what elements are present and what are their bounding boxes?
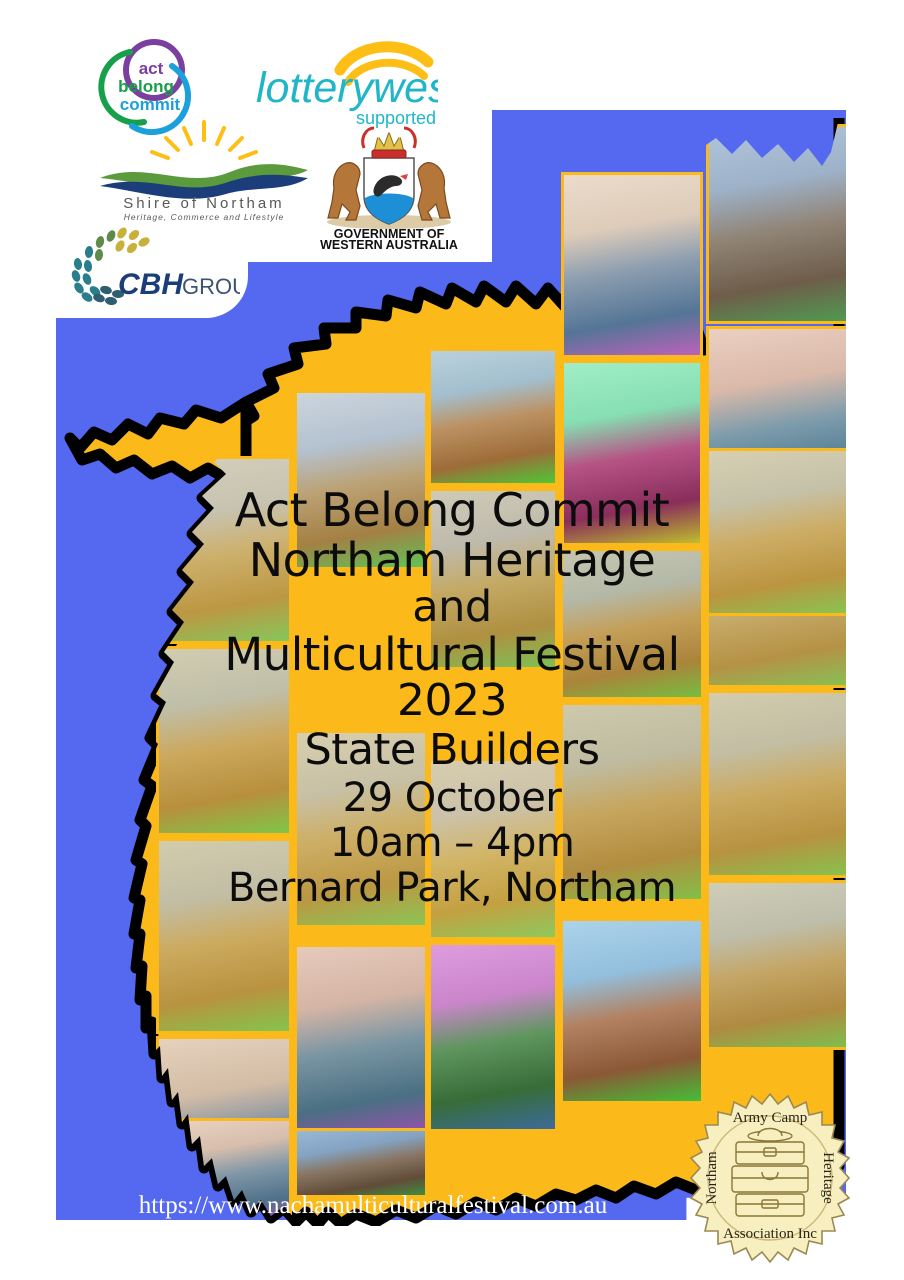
headline-line-9-venue: Bernard Park, Northam	[0, 868, 904, 909]
gwa-line2: WESTERN AUSTRALIA	[320, 238, 458, 250]
abc-act-text: act	[139, 59, 164, 78]
seal-left-text: Northam	[704, 1151, 720, 1205]
abc-commit-text: commit	[120, 95, 181, 114]
cbh-wordmark-light: GROUP	[182, 274, 240, 299]
seal-top-text: Army Camp	[733, 1110, 808, 1126]
photo-sepia-tint	[431, 945, 555, 1129]
northam-army-camp-heritage-association-seal: Army Camp Association Inc Northam Herita…	[686, 1092, 854, 1264]
headline-line-1: Act Belong Commit	[0, 487, 904, 534]
seal-right-text: Heritage	[820, 1152, 836, 1204]
poster-headline: Act Belong Commit Northam Heritage and M…	[0, 487, 904, 909]
headline-line-6-sponsor: State Builders	[0, 729, 904, 773]
headline-line-2: Northam Heritage	[0, 537, 904, 584]
suitcase-emblem	[732, 1129, 808, 1217]
seal-bottom-text: Association Inc	[723, 1226, 817, 1242]
government-of-western-australia-logo: GOVERNMENT OF WESTERN AUSTRALIA	[316, 118, 462, 250]
headline-line-8-time: 10am – 4pm	[0, 823, 904, 864]
headline-line-5-year: 2023	[0, 679, 904, 724]
photo-sepia-tint	[563, 921, 701, 1101]
headline-line-3: and	[0, 586, 904, 630]
photo-sepia-tint	[297, 947, 425, 1139]
shire-tagline: Heritage, Commerce and Lifestyle	[124, 212, 285, 222]
cbh-group-logo: CBH GROUP	[62, 222, 240, 312]
collage-photo	[706, 124, 856, 324]
collage-photo	[428, 942, 558, 1132]
collage-photo	[294, 1128, 428, 1198]
lotterywest-wordmark: lotterywest	[256, 64, 438, 112]
photo-sepia-tint	[431, 351, 555, 483]
collage-photo	[294, 944, 428, 1142]
collage-photo	[561, 172, 703, 358]
collage-photo	[428, 348, 558, 486]
shire-of-northam-logo: Shire of Northam Heritage, Commerce and …	[96, 120, 312, 224]
shire-title: Shire of Northam	[123, 195, 284, 212]
festival-poster: act belong commit lotterywest supported	[0, 0, 904, 1280]
photo-sepia-tint	[709, 127, 853, 321]
abc-belong-text: belong	[118, 77, 174, 96]
photo-sepia-tint	[564, 175, 700, 355]
website-url[interactable]: https://www.nachamulticulturalfestival.c…	[56, 1192, 690, 1220]
photo-sepia-tint	[297, 1131, 425, 1195]
headline-line-7-date: 29 October	[0, 778, 904, 819]
cbh-wordmark-bold: CBH	[118, 268, 184, 301]
headline-line-4: Multicultural Festival	[0, 632, 904, 678]
collage-photo	[560, 918, 704, 1104]
